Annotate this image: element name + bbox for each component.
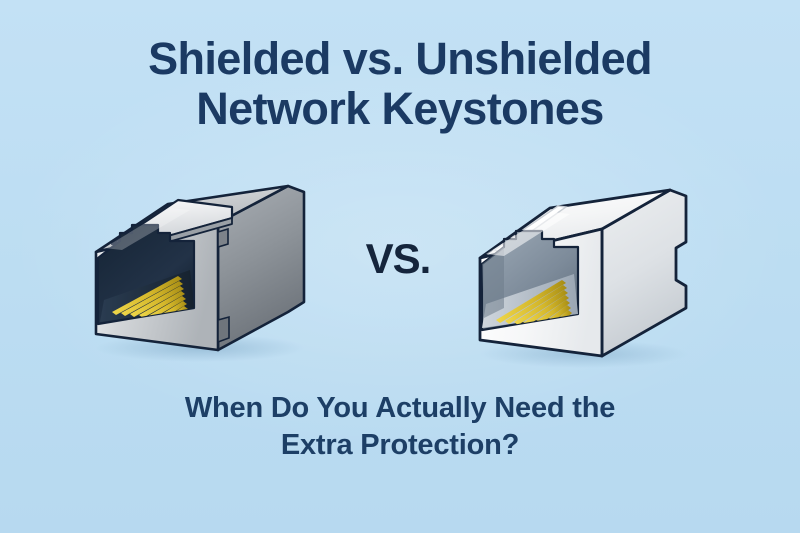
page-title-line-2: Network Keystones — [0, 84, 800, 134]
poster-canvas: Shielded vs. Unshielded Network Keystone… — [0, 0, 800, 533]
page-subtitle: When Do You Actually Need the Extra Prot… — [0, 390, 800, 464]
page-subtitle-line-1: When Do You Actually Need the — [0, 390, 800, 427]
shielded-keystone-mount-tab-lower — [218, 317, 229, 342]
versus-separator: VS. — [344, 238, 452, 280]
page-subtitle-line-2: Extra Protection? — [0, 427, 800, 464]
page-title: Shielded vs. Unshielded Network Keystone… — [0, 34, 800, 135]
page-title-line-1: Shielded vs. Unshielded — [0, 34, 800, 84]
unshielded-keystone-illustration — [466, 168, 698, 368]
shielded-keystone-illustration — [82, 162, 314, 362]
shielded-keystone-mount-tab-upper — [218, 229, 228, 247]
